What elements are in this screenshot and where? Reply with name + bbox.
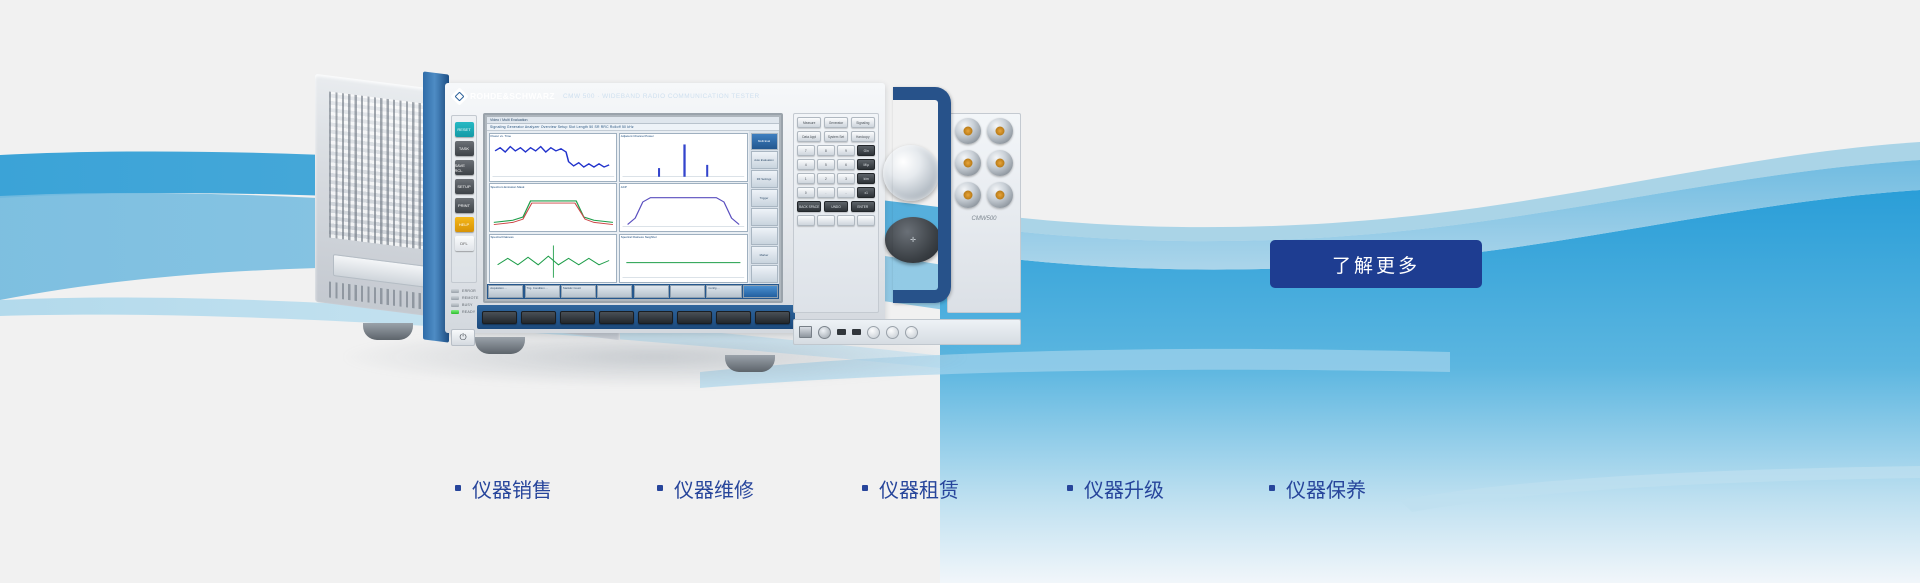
busy-led-label: BUSY — [462, 303, 473, 307]
device-side-brand: CMW500 — [952, 216, 1016, 222]
side-key-blank-3[interactable] — [751, 265, 778, 282]
device-model-label: CMW 500 · WIDEBAND RADIO COMMUNICATION T… — [563, 93, 760, 100]
key-dot[interactable]: . — [817, 187, 835, 198]
service-label: 仪器租赁 — [879, 474, 959, 503]
device-foot-3 — [725, 355, 775, 372]
key-undo[interactable]: UNDO — [824, 201, 848, 212]
plot-spectral-flatness-neighbor: Spectral Flatness Neighbor — [619, 234, 748, 283]
bottom-key-statistic-count[interactable]: Statistic Count — [561, 285, 596, 298]
bottom-key-acquisition[interactable]: Acquisition ... — [488, 285, 523, 298]
setup-key[interactable]: SETUP — [455, 179, 474, 194]
keypad-numeric-row-1: 7 8 9 G/n — [797, 145, 875, 156]
usb-port-icon-1[interactable] — [837, 329, 846, 335]
rohde-schwarz-logo: ROHDE&SCHWARZ — [453, 90, 555, 103]
error-led-label: ERROR — [462, 289, 476, 293]
rf1-com-connector[interactable] — [955, 118, 981, 144]
key-extra-3[interactable] — [837, 215, 855, 226]
key-mega-micro[interactable]: M/µ — [857, 159, 875, 170]
display-menu-bar: Signaling Generator Analyzer Overview Se… — [487, 124, 779, 131]
side-key-marker[interactable]: Marker — [751, 246, 778, 263]
key-0[interactable]: 0 — [797, 187, 815, 198]
rf2-com-connector[interactable] — [955, 150, 981, 176]
error-led-icon — [451, 289, 459, 293]
soft-key-6[interactable] — [677, 311, 712, 324]
key-measure[interactable]: Measure — [797, 117, 821, 128]
ready-led-icon — [451, 310, 459, 314]
display-body: Power vs. Time Adjacent Channel Power — [487, 131, 779, 284]
lan-port-icon[interactable] — [799, 326, 812, 338]
af-connector-icon-2[interactable] — [886, 326, 899, 339]
service-label: 仪器销售 — [472, 474, 552, 503]
soft-key-2[interactable] — [521, 311, 556, 324]
display-title-bar: Video / Multi Evaluation — [487, 117, 779, 124]
keypad-numeric-row-3: 1 2 3 k/m — [797, 173, 875, 184]
print-key[interactable]: PRINT — [455, 198, 474, 213]
bullet-dot-icon — [1067, 485, 1073, 491]
rf-connector-row-1 — [952, 118, 1016, 144]
usb-port-icon-2[interactable] — [852, 329, 861, 335]
key-enter[interactable]: ENTER — [851, 201, 875, 212]
bullet-dot-icon — [657, 485, 663, 491]
key-data-appl[interactable]: Data Appl — [797, 131, 821, 142]
plot-acp: ACP — [619, 183, 748, 232]
device-keypad: Measure Generator Signaling Data Appl Sy… — [793, 113, 879, 313]
hero-banner: ROHDE&SCHWARZ CMW 500 · WIDEBAND RADIO C… — [0, 0, 1920, 583]
reset-key[interactable]: RESET — [455, 122, 474, 137]
service-item-repair[interactable]: 仪器维修 — [657, 474, 754, 503]
plot-spectrum-emission-mask: Spectrum Emission Mask — [489, 183, 618, 232]
bottom-key-blank-1[interactable] — [597, 285, 632, 298]
bullet-dot-icon — [455, 485, 461, 491]
sensor-port-icon[interactable] — [818, 326, 831, 339]
device-foot-1 — [363, 323, 413, 340]
bullet-dot-icon — [1269, 485, 1275, 491]
soft-key-7[interactable] — [716, 311, 751, 324]
soft-key-4[interactable] — [599, 311, 634, 324]
key-8[interactable]: 8 — [817, 145, 835, 156]
plot-adjacent-channel-power: Adjacent Channel Power — [619, 133, 748, 182]
keypad-numeric-row-5: BACK SPACE UNDO ENTER — [797, 201, 875, 212]
key-kilo-milli[interactable]: k/m — [857, 173, 875, 184]
key-giga-nano[interactable]: G/n — [857, 145, 875, 156]
key-6[interactable]: 6 — [837, 159, 855, 170]
help-key[interactable]: HELP — [455, 217, 474, 232]
key-extra-1[interactable] — [797, 215, 815, 226]
dfl-key[interactable]: DFL — [455, 236, 474, 251]
af-connector-icon-3[interactable] — [905, 326, 918, 339]
service-label: 仪器保养 — [1286, 474, 1366, 503]
keypad-bottom-row — [797, 215, 875, 226]
soft-key-1[interactable] — [482, 311, 517, 324]
soft-key-5[interactable] — [638, 311, 673, 324]
key-signaling[interactable]: Signaling — [851, 117, 875, 128]
key-minus[interactable]: - — [837, 187, 855, 198]
service-item-rental[interactable]: 仪器租赁 — [862, 474, 959, 503]
io-port-strip — [793, 319, 1021, 345]
keypad-function-row-1: Measure Generator Signaling — [797, 117, 875, 128]
service-item-sales[interactable]: 仪器销售 — [455, 474, 552, 503]
key-3[interactable]: 3 — [837, 173, 855, 184]
instrument-image: ROHDE&SCHWARZ CMW 500 · WIDEBAND RADIO C… — [305, 55, 1225, 375]
display-side-keys: Multi Eval Auto Evaluation RF Settings T… — [749, 131, 779, 284]
side-key-trigger[interactable]: Trigger — [751, 189, 778, 206]
plot-label: Adjacent Channel Power — [621, 134, 654, 138]
brand-name: ROHDE&SCHWARZ — [470, 91, 555, 101]
soft-key-3[interactable] — [560, 311, 595, 324]
af-connector-icon-1[interactable] — [867, 326, 880, 339]
key-1[interactable]: 1 — [797, 173, 815, 184]
remote-led-label: REMOTE — [462, 296, 479, 300]
key-extra-4[interactable] — [857, 215, 875, 226]
service-item-upgrade[interactable]: 仪器升级 — [1067, 474, 1164, 503]
key-9[interactable]: 9 — [837, 145, 855, 156]
device-front-panel: ROHDE&SCHWARZ CMW 500 · WIDEBAND RADIO C… — [445, 83, 885, 333]
device-display[interactable]: Video / Multi Evaluation Signaling Gener… — [483, 113, 783, 303]
service-list: 仪器销售 仪器维修 仪器租赁 仪器升级 仪器保养 — [455, 468, 1465, 508]
side-key-auto-evaluation[interactable]: Auto Evaluation — [751, 151, 778, 168]
side-key-rf-settings[interactable]: RF Settings — [751, 170, 778, 187]
remote-led-icon — [451, 296, 459, 300]
plot-label: ACP — [621, 185, 627, 189]
keypad-numeric-row-2: 4 5 6 M/µ — [797, 159, 875, 170]
device-header-bar: ROHDE&SCHWARZ CMW 500 · WIDEBAND RADIO C… — [445, 83, 885, 109]
plot-label: Spectral Flatness Neighbor — [621, 235, 657, 239]
key-system-set[interactable]: System Set — [824, 131, 848, 142]
key-2[interactable]: 2 — [817, 173, 835, 184]
rf-connector-row-2 — [952, 150, 1016, 176]
bottom-key-blank-2[interactable] — [634, 285, 669, 298]
key-hardcopy[interactable]: Hardcopy — [851, 131, 875, 142]
rf1-out-connector[interactable] — [987, 118, 1013, 144]
key-backspace[interactable]: BACK SPACE — [797, 201, 821, 212]
bottom-key-blank-4[interactable] — [743, 285, 778, 298]
left-key-column: RESET TASK SAVE RCL SETUP PRINT HELP DFL — [451, 115, 477, 283]
power-button[interactable]: ⏻ — [451, 329, 475, 346]
device-foot-2 — [475, 337, 525, 354]
key-times-one[interactable]: x1 — [857, 187, 875, 198]
key-extra-2[interactable] — [817, 215, 835, 226]
key-4[interactable]: 4 — [797, 159, 815, 170]
side-key-blank-1[interactable] — [751, 208, 778, 225]
rf-connector-panel: CMW500 — [947, 113, 1021, 313]
rf3-com-connector[interactable] — [955, 182, 981, 208]
bottom-key-trig-condition[interactable]: Trig. Condition ... — [525, 285, 560, 298]
plot-label: Spectral Flatness — [491, 235, 514, 239]
brand-mark-icon — [450, 87, 468, 105]
plot-label: Spectrum Emission Mask — [491, 185, 525, 189]
rf-connector-row-3 — [952, 182, 1016, 208]
rf3-out-connector[interactable] — [987, 182, 1013, 208]
keypad-function-row-2: Data Appl System Set Hardcopy — [797, 131, 875, 142]
key-generator[interactable]: Generator — [824, 117, 848, 128]
bottom-key-blank-3[interactable] — [670, 285, 705, 298]
bottom-key-config[interactable]: Config ... — [706, 285, 741, 298]
display-bottom-keys: Acquisition ... Trig. Condition ... Stat… — [487, 284, 779, 299]
plot-label: Power vs. Time — [491, 134, 512, 138]
soft-key-bar — [477, 305, 795, 329]
service-label: 仪器维修 — [674, 474, 754, 503]
measurement-plot-grid: Power vs. Time Adjacent Channel Power — [487, 131, 749, 284]
plot-power-vs-time: Power vs. Time — [489, 133, 618, 182]
service-item-maintenance[interactable]: 仪器保养 — [1269, 474, 1366, 503]
service-label: 仪器升级 — [1084, 474, 1164, 503]
soft-key-8[interactable] — [755, 311, 790, 324]
learn-more-button[interactable]: 了解更多 — [1270, 240, 1482, 288]
side-key-multi-eval[interactable]: Multi Eval — [751, 133, 778, 150]
plot-spectral-flatness: Spectral Flatness — [489, 234, 618, 283]
carrying-handle — [893, 87, 951, 303]
key-7[interactable]: 7 — [797, 145, 815, 156]
save-recall-key[interactable]: SAVE RCL — [455, 160, 474, 175]
key-5[interactable]: 5 — [817, 159, 835, 170]
bullet-dot-icon — [862, 485, 868, 491]
busy-led-icon — [451, 303, 459, 307]
keypad-numeric-row-4: 0 . - x1 — [797, 187, 875, 198]
ready-led-label: READY — [462, 310, 475, 314]
display-content: Video / Multi Evaluation Signaling Gener… — [487, 117, 779, 299]
task-key[interactable]: TASK — [455, 141, 474, 156]
side-key-blank-2[interactable] — [751, 227, 778, 244]
rf2-out-connector[interactable] — [987, 150, 1013, 176]
